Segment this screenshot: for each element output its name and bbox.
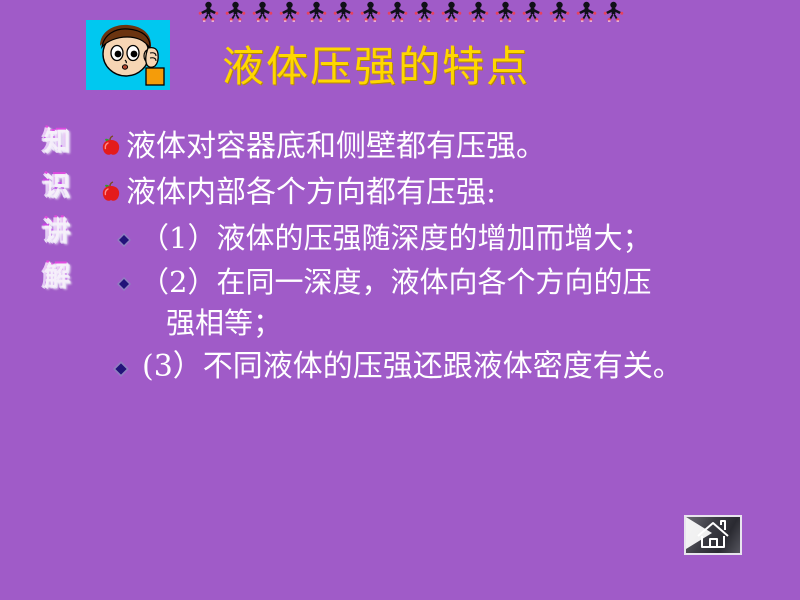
side-label-char: 讲 <box>42 208 68 253</box>
list-item-text-wrapper: （2）在同一深度，液体向各个方向的压强相等； <box>140 262 651 344</box>
skater-figure-icon <box>303 1 330 22</box>
skater-figure-icon <box>600 1 627 22</box>
skater-figure-icon <box>276 1 303 22</box>
skater-figure-icon <box>195 1 222 22</box>
list-item-text-continued: 强相等； <box>140 303 651 344</box>
skater-figure-icon <box>411 1 438 22</box>
list-item-text: （2）在同一深度，液体向各个方向的压 <box>140 265 651 299</box>
apple-bullet-icon <box>100 172 126 206</box>
list-item-text: （1）液体的压强随深度的增加而增大； <box>140 218 651 259</box>
decorative-border-strip <box>195 1 633 23</box>
skater-figure-icon <box>330 1 357 22</box>
list-item: (3）不同液体的压强还跟液体密度有关。 <box>112 346 790 388</box>
diamond-bullet-icon <box>116 218 140 260</box>
listening-boy-image <box>86 20 170 90</box>
skater-figure-icon <box>546 1 573 22</box>
side-label-char: 解 <box>42 253 68 298</box>
list-item: （2）在同一深度，液体向各个方向的压强相等； <box>116 262 790 344</box>
skater-figure-icon <box>249 1 276 22</box>
list-item: 液体内部各个方向都有压强: <box>100 172 790 214</box>
side-label-char: 知 <box>42 118 68 163</box>
skater-figure-icon <box>384 1 411 22</box>
knowledge-explanation-label: 知 识 讲 解 <box>28 118 82 298</box>
list-item-text: 液体对容器底和侧壁都有压强。 <box>126 126 546 168</box>
page-title: 液体压强的特点 <box>222 42 530 92</box>
skater-figure-icon <box>492 1 519 22</box>
skater-figure-icon <box>519 1 546 22</box>
diamond-bullet-icon <box>112 346 142 388</box>
list-item-text: 液体内部各个方向都有压强: <box>126 172 496 214</box>
slide-canvas: 液体压强的特点 知 识 讲 解 液体对容器底和侧壁都有压强。 <box>0 0 800 600</box>
skater-figure-icon <box>357 1 384 22</box>
home-button[interactable] <box>684 515 742 555</box>
side-label-char: 识 <box>42 163 68 208</box>
apple-bullet-icon <box>100 126 126 160</box>
list-item: 液体对容器底和侧壁都有压强。 <box>100 126 790 168</box>
bullet-list: 液体对容器底和侧壁都有压强。 液体内部各个方向都有压强: （1）液体的压 <box>100 126 790 390</box>
list-item-text: (3）不同液体的压强还跟液体密度有关。 <box>142 346 683 387</box>
skater-figure-icon <box>438 1 465 22</box>
skater-figure-icon <box>573 1 600 22</box>
list-item: （1）液体的压强随深度的增加而增大； <box>116 218 790 260</box>
skater-figure-icon <box>222 1 249 22</box>
skater-figure-icon <box>465 1 492 22</box>
diamond-bullet-icon <box>116 262 140 304</box>
